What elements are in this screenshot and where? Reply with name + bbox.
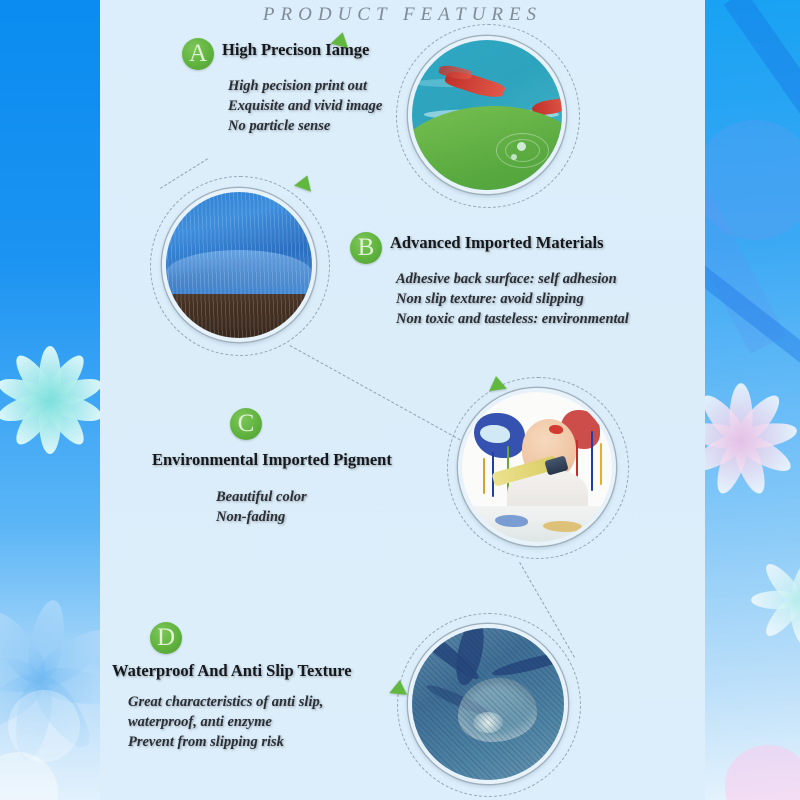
feature-line: High pecision print out [228, 76, 382, 96]
feature-badge-a: A [182, 38, 214, 70]
feature-line: Non toxic and tasteless: environmental [396, 309, 629, 329]
feature-lines-a: High pecision print out Exquisite and vi… [228, 76, 382, 136]
feature-lines-c: Beautiful color Non-fading [216, 487, 307, 527]
feature-line: No particle sense [228, 116, 382, 136]
feature-title-b: Advanced Imported Materials [390, 233, 604, 253]
arrow-marker-b [294, 172, 316, 191]
right-decorative-border [705, 0, 800, 800]
feature-line: waterproof, anti enzyme [128, 712, 323, 732]
feature-title-c: Environmental Imported Pigment [152, 450, 392, 470]
product-features-infographic: PRODUCT FEATURES A High Precison Iamge H… [0, 0, 800, 800]
feature-line: Non slip texture: avoid slipping [396, 289, 629, 309]
feature-badge-c: C [230, 408, 262, 440]
feature-line: Exquisite and vivid image [228, 96, 382, 116]
arrow-marker-d [389, 679, 408, 695]
bubble-decor [725, 745, 800, 800]
feature-line: Great characteristics of anti slip, [128, 692, 323, 712]
feature-line: Beautiful color [216, 487, 307, 507]
feature-lines-d: Great characteristics of anti slip, wate… [128, 692, 323, 752]
water-droplet-texture-photo [408, 624, 568, 784]
arrow-marker-c [487, 375, 507, 391]
feature-lines-b: Adhesive back surface: self adhesion Non… [396, 269, 629, 329]
left-decorative-border [0, 0, 100, 800]
feature-line: Prevent from slipping risk [128, 732, 323, 752]
feature-badge-d: D [150, 622, 182, 654]
feature-title-d: Waterproof And Anti Slip Texture [112, 661, 352, 681]
feature-block-d: D Waterproof And Anti Slip Texture Great… [100, 610, 705, 800]
main-content-panel: PRODUCT FEATURES A High Precison Iamge H… [100, 0, 705, 800]
blue-fabric-texture-photo [162, 188, 316, 342]
feature-block-c: C Environmental Imported Pigment Beautif… [100, 370, 705, 570]
feature-block-b: B Advanced Imported Materials Adhesive b… [100, 170, 705, 360]
bubble-decor [705, 120, 800, 240]
feature-badge-b: B [350, 232, 382, 264]
feature-line: Non-fading [216, 507, 307, 527]
baby-painting-photo [458, 388, 616, 546]
feature-line: Adhesive back surface: self adhesion [396, 269, 629, 289]
